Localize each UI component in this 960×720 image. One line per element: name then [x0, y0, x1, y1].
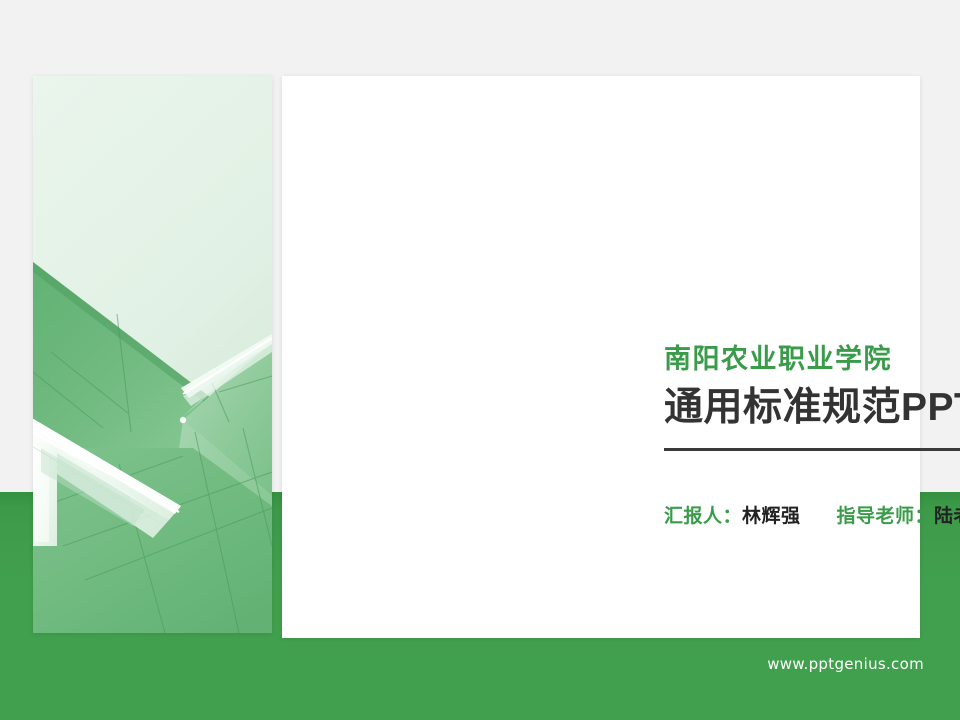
slide-content-card: 南阳农业职业学院 Nanyang Vocational College of A…: [282, 76, 920, 638]
abstract-green-architecture-photo: [33, 76, 272, 633]
university-name: 南阳农业职业学院: [664, 344, 960, 375]
presenter-label: 汇报人：: [664, 501, 742, 528]
meta-item-advisor: 指导老师： 陆老师: [837, 501, 960, 528]
slide-title: 通用标准规范PPT模板: [664, 386, 960, 431]
presenter-name: 林辉强: [742, 501, 801, 528]
presenter-meta-row: 汇报人： 林辉强 指导老师： 陆老师: [664, 501, 960, 528]
title-block: 南阳农业职业学院 通用标准规范PPT模板: [664, 344, 960, 451]
advisor-name: 陆老师: [934, 501, 960, 528]
title-divider: [664, 448, 960, 451]
advisor-label: 指导老师：: [837, 501, 935, 528]
meta-item-presenter: 汇报人： 林辉强: [664, 501, 801, 528]
site-watermark: www.pptgenius.com: [767, 655, 924, 673]
photo-artwork: [33, 76, 272, 633]
